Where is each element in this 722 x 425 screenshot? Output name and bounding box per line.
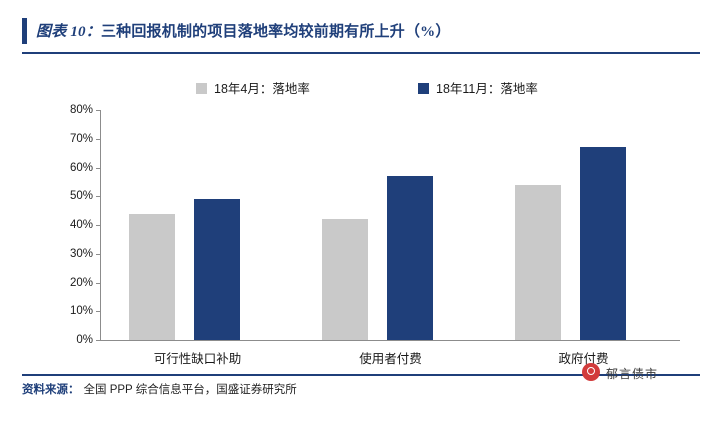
y-axis-tick-mark xyxy=(96,340,100,341)
y-axis-tick-label: 10% xyxy=(55,305,93,317)
figure-container: 图表 10：三种回报机制的项目落地率均较前期有所上升（%） 18年4月：落地率 … xyxy=(0,0,722,425)
bar-1 xyxy=(580,147,626,340)
figure-number: 图表 10： xyxy=(36,24,101,40)
y-axis-tick-label: 60% xyxy=(55,162,93,174)
y-axis-tick-label: 70% xyxy=(55,133,93,145)
legend-label-0: 18年4月：落地率 xyxy=(214,82,310,96)
bar-group: 使用者付费 xyxy=(294,110,487,340)
chart-plot-area: 0%10%20%30%40%50%60%70%80% 可行性缺口补助使用者付费政… xyxy=(55,110,680,340)
source-label: 资料来源： xyxy=(22,384,80,396)
y-axis-tick-label: 30% xyxy=(55,248,93,260)
figure-title-text: 三种回报机制的项目落地率均较前期有所上升（%） xyxy=(101,24,451,40)
record-circle-icon xyxy=(582,363,600,381)
bar-0 xyxy=(129,214,175,341)
bar-0 xyxy=(322,219,368,340)
legend-swatch-icon-1 xyxy=(418,83,429,94)
y-axis-tick-label: 80% xyxy=(55,104,93,116)
watermark: 郁言债市 xyxy=(582,362,700,384)
y-axis-tick-label: 50% xyxy=(55,190,93,202)
header-divider xyxy=(22,52,700,54)
y-axis-tick-mark xyxy=(96,139,100,140)
legend-item-series-0: 18年4月：落地率 xyxy=(196,78,310,97)
source-text: 全国 PPP 综合信息平台，国盛证券研究所 xyxy=(84,384,297,396)
y-axis-tick-mark xyxy=(96,196,100,197)
chart-legend: 18年4月：落地率 18年11月：落地率 xyxy=(0,76,722,98)
bar-1 xyxy=(387,176,433,340)
y-axis-tick-mark xyxy=(96,110,100,111)
page-title: 图表 10：三种回报机制的项目落地率均较前期有所上升（%） xyxy=(36,20,451,41)
bar-0 xyxy=(515,185,561,340)
figure-header: 图表 10：三种回报机制的项目落地率均较前期有所上升（%） xyxy=(22,18,700,52)
watermark-text: 郁言债市 xyxy=(606,365,658,382)
x-axis-category-label: 使用者付费 xyxy=(294,348,487,367)
x-axis-line xyxy=(100,340,680,341)
y-axis-tick-mark xyxy=(96,311,100,312)
header-accent-bar xyxy=(22,18,27,44)
y-axis-tick-label: 0% xyxy=(55,334,93,346)
y-axis-tick-mark xyxy=(96,254,100,255)
y-axis-tick-mark xyxy=(96,168,100,169)
legend-label-1: 18年11月：落地率 xyxy=(436,82,538,96)
y-axis-tick-mark xyxy=(96,225,100,226)
bar-1 xyxy=(194,199,240,340)
y-axis-tick-mark xyxy=(96,283,100,284)
bar-groups: 可行性缺口补助使用者付费政府付费 xyxy=(101,110,680,340)
bar-group: 可行性缺口补助 xyxy=(101,110,294,340)
source-note: 资料来源：全国 PPP 综合信息平台，国盛证券研究所 xyxy=(22,381,297,397)
y-axis-tick-label: 20% xyxy=(55,277,93,289)
legend-swatch-icon-0 xyxy=(196,83,207,94)
x-axis-category-label: 可行性缺口补助 xyxy=(101,348,294,367)
legend-item-series-1: 18年11月：落地率 xyxy=(418,78,538,97)
bar-group: 政府付费 xyxy=(487,110,680,340)
y-axis-tick-label: 40% xyxy=(55,219,93,231)
